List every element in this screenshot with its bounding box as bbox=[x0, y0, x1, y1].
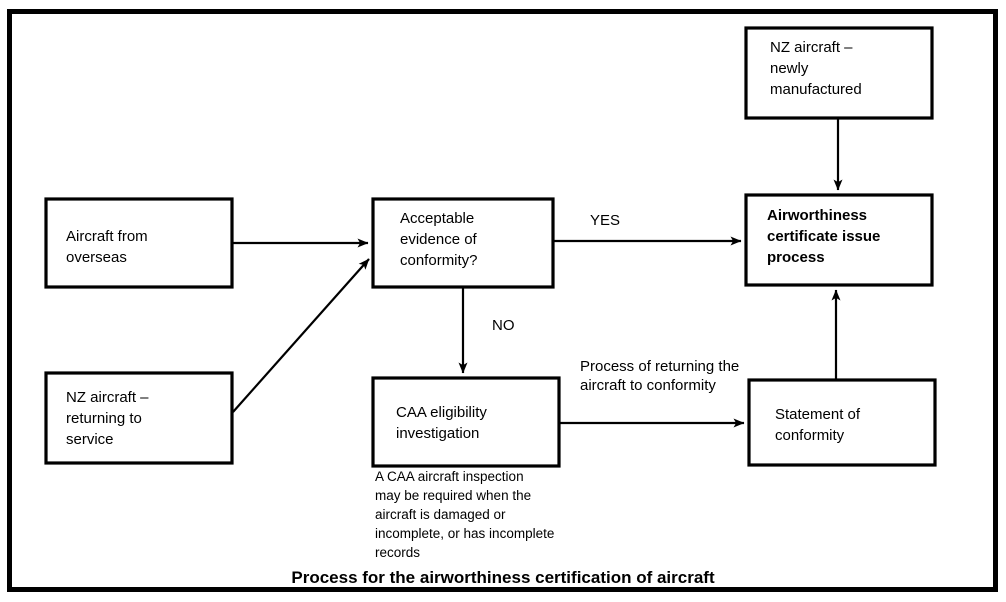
node-label-line-2: certificate issue bbox=[767, 228, 880, 245]
node-acceptable-evidence-of-conformity: Acceptable evidence of conformity? bbox=[373, 199, 553, 287]
edge-label-return-process-line-2: aircraft to conformity bbox=[580, 377, 716, 394]
caa-inspection-note-line-5: records bbox=[375, 545, 420, 560]
node-label-line-1: Acceptable bbox=[400, 210, 474, 227]
node-label-line-3: conformity? bbox=[400, 252, 478, 269]
caa-inspection-note: A CAA aircraft inspection may be require… bbox=[375, 469, 554, 560]
node-label-line-2: evidence of bbox=[400, 231, 478, 248]
node-label-line-3: service bbox=[66, 431, 114, 448]
node-nz-aircraft-newly-manufactured: NZ aircraft – newly manufactured bbox=[746, 28, 932, 118]
diagram-page: NZ aircraft – newly manufactured Aircraf… bbox=[0, 0, 1006, 602]
node-label-line-1: Statement of bbox=[775, 406, 861, 423]
caa-inspection-note-line-1: A CAA aircraft inspection bbox=[375, 469, 524, 484]
node-label-line-2: returning to bbox=[66, 410, 142, 427]
node-label-line-1: Airworthiness bbox=[767, 207, 867, 224]
node-label-line-3: process bbox=[767, 249, 825, 266]
node-label-line-2: newly bbox=[770, 60, 809, 77]
edge-label-no: NO bbox=[492, 317, 515, 334]
caa-inspection-note-line-3: aircraft is damaged or bbox=[375, 507, 506, 522]
node-label-line-1: CAA eligibility bbox=[396, 404, 487, 421]
edge-label-yes: YES bbox=[590, 212, 620, 229]
diagram-caption: Process for the airworthiness certificat… bbox=[291, 568, 715, 587]
node-label-line-1: NZ aircraft – bbox=[66, 389, 149, 406]
node-aircraft-from-overseas: Aircraft from overseas bbox=[46, 199, 232, 287]
node-label-line-3: manufactured bbox=[770, 81, 862, 98]
node-label-line-2: investigation bbox=[396, 425, 479, 442]
flowchart-canvas: NZ aircraft – newly manufactured Aircraf… bbox=[0, 0, 1006, 602]
caa-inspection-note-line-2: may be required when the bbox=[375, 488, 531, 503]
edge-label-return-process: Process of returning the aircraft to con… bbox=[580, 358, 739, 394]
node-label-line-2: conformity bbox=[775, 427, 845, 444]
node-statement-of-conformity: Statement of conformity bbox=[749, 380, 935, 465]
caa-inspection-note-line-4: incomplete, or has incomplete bbox=[375, 526, 554, 541]
edge-label-return-process-line-1: Process of returning the bbox=[580, 358, 739, 375]
edge-returning-to-decision bbox=[233, 259, 369, 412]
node-label-line-2: overseas bbox=[66, 249, 127, 266]
node-label-line-1: NZ aircraft – bbox=[770, 39, 853, 56]
node-airworthiness-certificate-issue-process: Airworthiness certificate issue process bbox=[746, 195, 932, 285]
node-caa-eligibility-investigation: CAA eligibility investigation bbox=[373, 378, 559, 466]
node-nz-aircraft-returning-to-service: NZ aircraft – returning to service bbox=[46, 373, 232, 463]
node-box-rect bbox=[373, 378, 559, 466]
node-label-line-1: Aircraft from bbox=[66, 228, 148, 245]
